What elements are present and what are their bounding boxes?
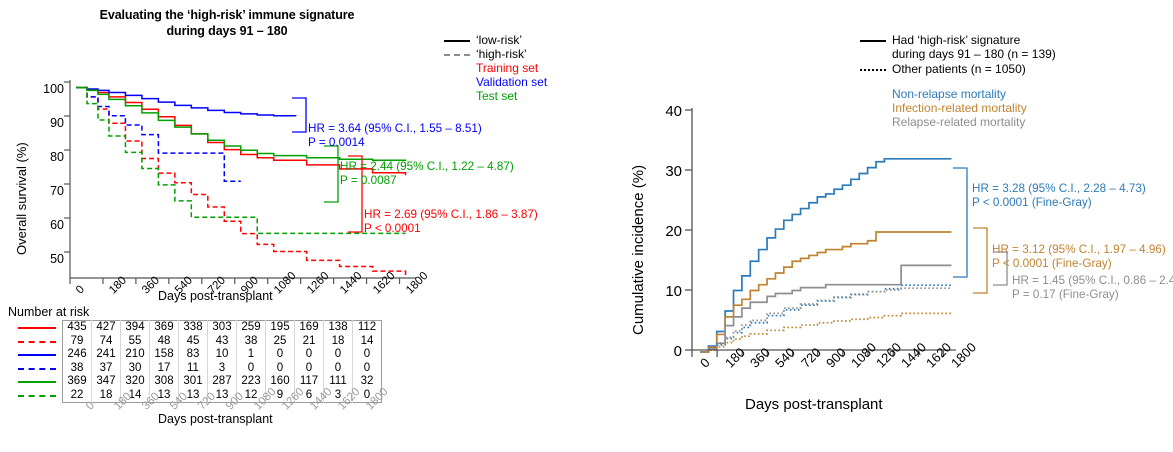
right-xtick-1260: 1260 — [873, 360, 884, 371]
stat-validation-p: P = 0.0014 — [308, 136, 482, 150]
right-xtick-1620: 1620 — [923, 360, 934, 371]
risk-table-cell: 0 — [353, 362, 382, 376]
right-xtick-180: 180 — [722, 360, 733, 371]
legend-label-line1: Had ‘high-risk’ signature — [892, 33, 1056, 47]
risk-table-cell: 308 — [150, 375, 179, 389]
stat-non-relapse-hr: HR = 3.28 (95% C.I., 2.28 – 4.73) — [972, 182, 1146, 196]
risk-table-cell: 48 — [150, 335, 179, 349]
stat-validation-hr: HR = 3.64 (95% C.I., 1.55 – 8.51) — [308, 122, 482, 136]
stat-relapse-p: P = 0.17 (Fine-Gray) — [1012, 288, 1173, 302]
legend-label-training-set: Training set — [476, 61, 538, 75]
dotted-line-icon — [860, 69, 886, 71]
stat-non-relapse: HR = 3.28 (95% C.I., 2.28 – 4.73) P < 0.… — [972, 182, 1146, 209]
risk-table-cell: 347 — [92, 375, 121, 389]
right-xtick-1440: 1440 — [898, 360, 909, 371]
risk-table-cell: 0 — [353, 348, 382, 362]
risk-table-cell: 30 — [121, 362, 150, 376]
right-ytick-30: 30 — [646, 163, 682, 180]
risk-table-cell: 0 — [324, 362, 353, 376]
legend-label-validation-set: Validation set — [476, 75, 547, 89]
risk-table-cell: 0 — [266, 348, 295, 362]
legend-item-high-risk-signature: Had ‘high-risk’ signature during days 91… — [860, 33, 1056, 61]
dashed-line-icon — [444, 54, 470, 56]
risk-table-cell: 0 — [295, 362, 324, 376]
risk-table-cell: 394 — [121, 321, 150, 335]
risk-table-row: 246241210158831010000 — [63, 348, 382, 362]
stat-test: HR = 2.44 (95% C.I., 1.22 – 4.87) P = 0.… — [340, 160, 514, 187]
risk-key-validation-low — [18, 354, 56, 356]
risk-table-row: 7974554845433825211814 — [63, 335, 382, 349]
risk-table-cell: 0 — [295, 348, 324, 362]
risk-table-cell: 25 — [266, 335, 295, 349]
figure-title-line2: during days 91 – 180 — [62, 23, 392, 39]
left-ytick-70: 70 — [32, 184, 64, 198]
right-xtick-900: 900 — [823, 360, 834, 371]
left-ytick-100: 100 — [32, 82, 64, 96]
legend-label-high-risk-signature: Had ‘high-risk’ signature during days 91… — [892, 33, 1056, 61]
risk-table-cell: 11 — [179, 362, 208, 376]
risk-table-cell: 427 — [92, 321, 121, 335]
risk-x-axis-title: Days post-transplant — [158, 412, 273, 426]
risk-table-cell: 320 — [121, 375, 150, 389]
risk-table-cell: 259 — [237, 321, 266, 335]
left-x-axis-title: Days post-transplant — [158, 289, 273, 303]
risk-table-cell: 369 — [150, 321, 179, 335]
risk-table-cell: 38 — [63, 362, 92, 376]
risk-table: 4354273943693383032591951691381127974554… — [62, 320, 382, 403]
risk-table-cell: 37 — [92, 362, 121, 376]
right-xtick-0: 0 — [697, 360, 708, 371]
risk-key-test-high — [18, 395, 56, 397]
right-xtick-540: 540 — [772, 360, 783, 371]
right-x-axis-title: Days post-transplant — [745, 396, 883, 413]
risk-table-caption: Number at risk — [8, 305, 89, 319]
legend-item-validation-set: Validation set — [444, 75, 547, 89]
left-ytick-60: 60 — [32, 218, 64, 232]
right-panel-cumulative-incidence: Had ‘high-risk’ signature during days 91… — [620, 0, 1173, 452]
stat-relapse-hr: HR = 1.45 (95% C.I., 0.86 – 2.45) — [1012, 274, 1173, 288]
risk-table-cell: 338 — [179, 321, 208, 335]
legend-item-low-risk: ‘low-risk’ — [444, 33, 547, 47]
legend-item-non-relapse-mortality: Non-relapse mortality — [860, 87, 1056, 101]
right-xtick-720: 720 — [798, 360, 809, 371]
risk-table-cell: 0 — [266, 362, 295, 376]
solid-line-icon — [860, 40, 886, 42]
risk-table-row: 435427394369338303259195169138112 — [63, 321, 382, 335]
risk-table-cell: 32 — [353, 375, 382, 389]
left-ytick-50: 50 — [32, 252, 64, 266]
risk-table-cell: 43 — [208, 335, 237, 349]
left-panel-legend: ‘low-risk’ ‘high-risk’ Training set Vali… — [444, 33, 547, 103]
risk-table-cell: 0 — [237, 362, 266, 376]
risk-table-cell: 435 — [63, 321, 92, 335]
risk-table-cell: 17 — [150, 362, 179, 376]
risk-table-cell: 223 — [237, 375, 266, 389]
figure-title: Evaluating the ‘high-risk’ immune signat… — [62, 7, 392, 39]
right-xtick-1080: 1080 — [848, 360, 859, 371]
risk-table-cell: 74 — [92, 335, 121, 349]
risk-xtick-1260: 1260 — [280, 404, 288, 412]
legend-label-high-risk: ‘high-risk’ — [476, 47, 527, 61]
risk-table-cell: 111 — [324, 375, 353, 389]
stat-infection-p: P < 0.0001 (Fine-Gray) — [992, 257, 1166, 271]
risk-key-training-low — [18, 327, 56, 329]
stat-training-p: P < 0.0001 — [364, 222, 538, 236]
legend-item-training-set: Training set — [444, 61, 547, 75]
right-ytick-0: 0 — [646, 343, 682, 360]
risk-xtick-1620: 1620 — [336, 404, 344, 412]
stat-test-hr: HR = 2.44 (95% C.I., 1.22 – 4.87) — [340, 160, 514, 174]
risk-table-cell: 369 — [63, 375, 92, 389]
risk-table-row: 3837301711300000 — [63, 362, 382, 376]
risk-table-cell: 83 — [179, 348, 208, 362]
risk-table-cell: 1 — [237, 348, 266, 362]
risk-table-cell: 195 — [266, 321, 295, 335]
risk-table-cell: 210 — [121, 348, 150, 362]
risk-table-cell: 158 — [150, 348, 179, 362]
risk-table-cell: 79 — [63, 335, 92, 349]
figure-title-line1: Evaluating the ‘high-risk’ immune signat… — [62, 7, 392, 23]
risk-table-cell: 112 — [353, 321, 382, 335]
risk-table-cell: 138 — [324, 321, 353, 335]
risk-table-cell: 18 — [324, 335, 353, 349]
stat-infection: HR = 3.12 (95% C.I., 1.97 – 4.96) P < 0.… — [992, 243, 1166, 270]
left-ytick-80: 80 — [32, 150, 64, 164]
risk-xtick-180: 180 — [112, 404, 120, 412]
right-xtick-360: 360 — [747, 360, 758, 371]
solid-line-icon — [444, 40, 470, 42]
stat-relapse: HR = 1.45 (95% C.I., 0.86 – 2.45) P = 0.… — [1012, 274, 1173, 301]
risk-key-validation-high — [18, 368, 56, 370]
risk-table-cell: 241 — [92, 348, 121, 362]
legend-item-other-patients: Other patients (n = 1050) — [860, 62, 1056, 76]
stat-training: HR = 2.69 (95% C.I., 1.86 – 3.87) P < 0.… — [364, 208, 538, 235]
risk-table-cell: 169 — [295, 321, 324, 335]
stat-validation: HR = 3.64 (95% C.I., 1.55 – 8.51) P = 0.… — [308, 122, 482, 149]
right-ytick-10: 10 — [646, 283, 682, 300]
legend-item-high-risk: ‘high-risk’ — [444, 47, 547, 61]
risk-table-cell: 0 — [324, 348, 353, 362]
risk-xtick-0: 0 — [84, 404, 92, 412]
risk-table-cell: 287 — [208, 375, 237, 389]
right-y-axis-title: Cumulative incidence (%) — [630, 165, 647, 335]
risk-table-cell: 55 — [121, 335, 150, 349]
left-y-axis-title: Overall survival (%) — [14, 142, 29, 255]
risk-xtick-360: 360 — [140, 404, 148, 412]
risk-key-test-low — [18, 381, 56, 383]
risk-table-cell: 38 — [237, 335, 266, 349]
right-ytick-40: 40 — [646, 103, 682, 120]
risk-table-cell: 21 — [295, 335, 324, 349]
risk-table-cell: 3 — [208, 362, 237, 376]
left-panel-survival: Evaluating the ‘high-risk’ immune signat… — [0, 0, 620, 452]
risk-table-cell: 301 — [179, 375, 208, 389]
right-ytick-20: 20 — [646, 223, 682, 240]
risk-table-cell: 45 — [179, 335, 208, 349]
right-axes — [684, 108, 964, 358]
risk-table-cell: 246 — [63, 348, 92, 362]
stat-infection-hr: HR = 3.12 (95% C.I., 1.97 – 4.96) — [992, 243, 1166, 257]
risk-table-row: 36934732030830128722316011711132 — [63, 375, 382, 389]
stat-non-relapse-p: P < 0.0001 (Fine-Gray) — [972, 196, 1146, 210]
legend-label-other-patients: Other patients (n = 1050) — [892, 62, 1026, 76]
left-ytick-90: 90 — [32, 116, 64, 130]
risk-xtick-1440: 1440 — [308, 404, 316, 412]
risk-table-row: 221814131313129630 — [63, 389, 382, 403]
legend-label-non-relapse-mortality: Non-relapse mortality — [892, 87, 1006, 101]
risk-table-cell: 303 — [208, 321, 237, 335]
risk-table-cell: 10 — [208, 348, 237, 362]
stat-test-p: P = 0.0087 — [340, 174, 514, 188]
stat-training-hr: HR = 2.69 (95% C.I., 1.86 – 3.87) — [364, 208, 538, 222]
right-xtick-1800: 1800 — [948, 360, 959, 371]
legend-label-low-risk: ‘low-risk’ — [476, 33, 522, 47]
legend-label-line2: during days 91 – 180 (n = 139) — [892, 47, 1056, 61]
risk-key-training-high — [18, 341, 56, 343]
risk-table-cell: 14 — [353, 335, 382, 349]
legend-label-test-set: Test set — [476, 89, 517, 103]
risk-xtick-1800: 1800 — [364, 404, 372, 412]
